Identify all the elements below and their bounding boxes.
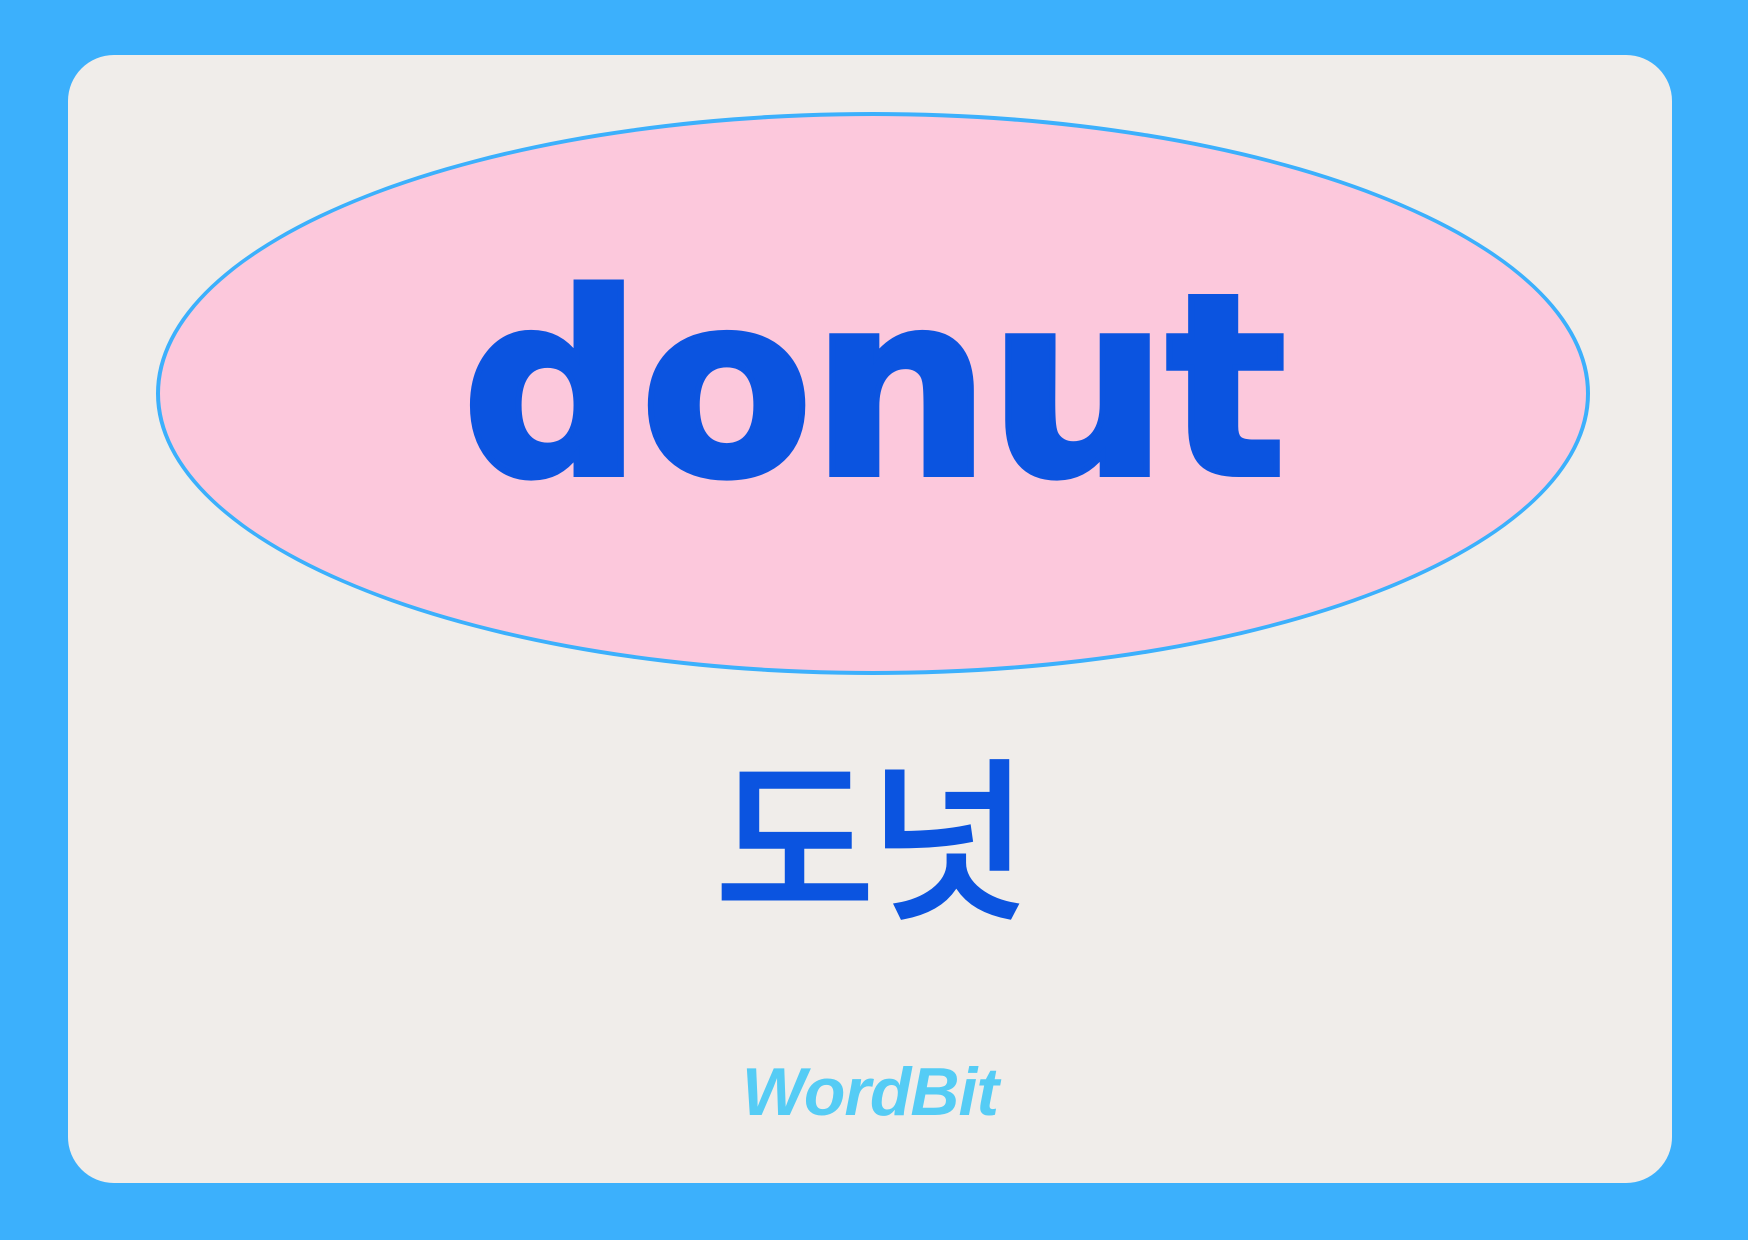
vocabulary-translation: 도넛 xyxy=(68,755,1672,936)
vocabulary-word: donut xyxy=(462,262,1285,514)
word-highlight-ellipse: donut xyxy=(156,112,1590,675)
brand-wordmark: WordBit xyxy=(68,1058,1672,1126)
flashcard[interactable]: donut 도넛 WordBit xyxy=(68,55,1672,1183)
